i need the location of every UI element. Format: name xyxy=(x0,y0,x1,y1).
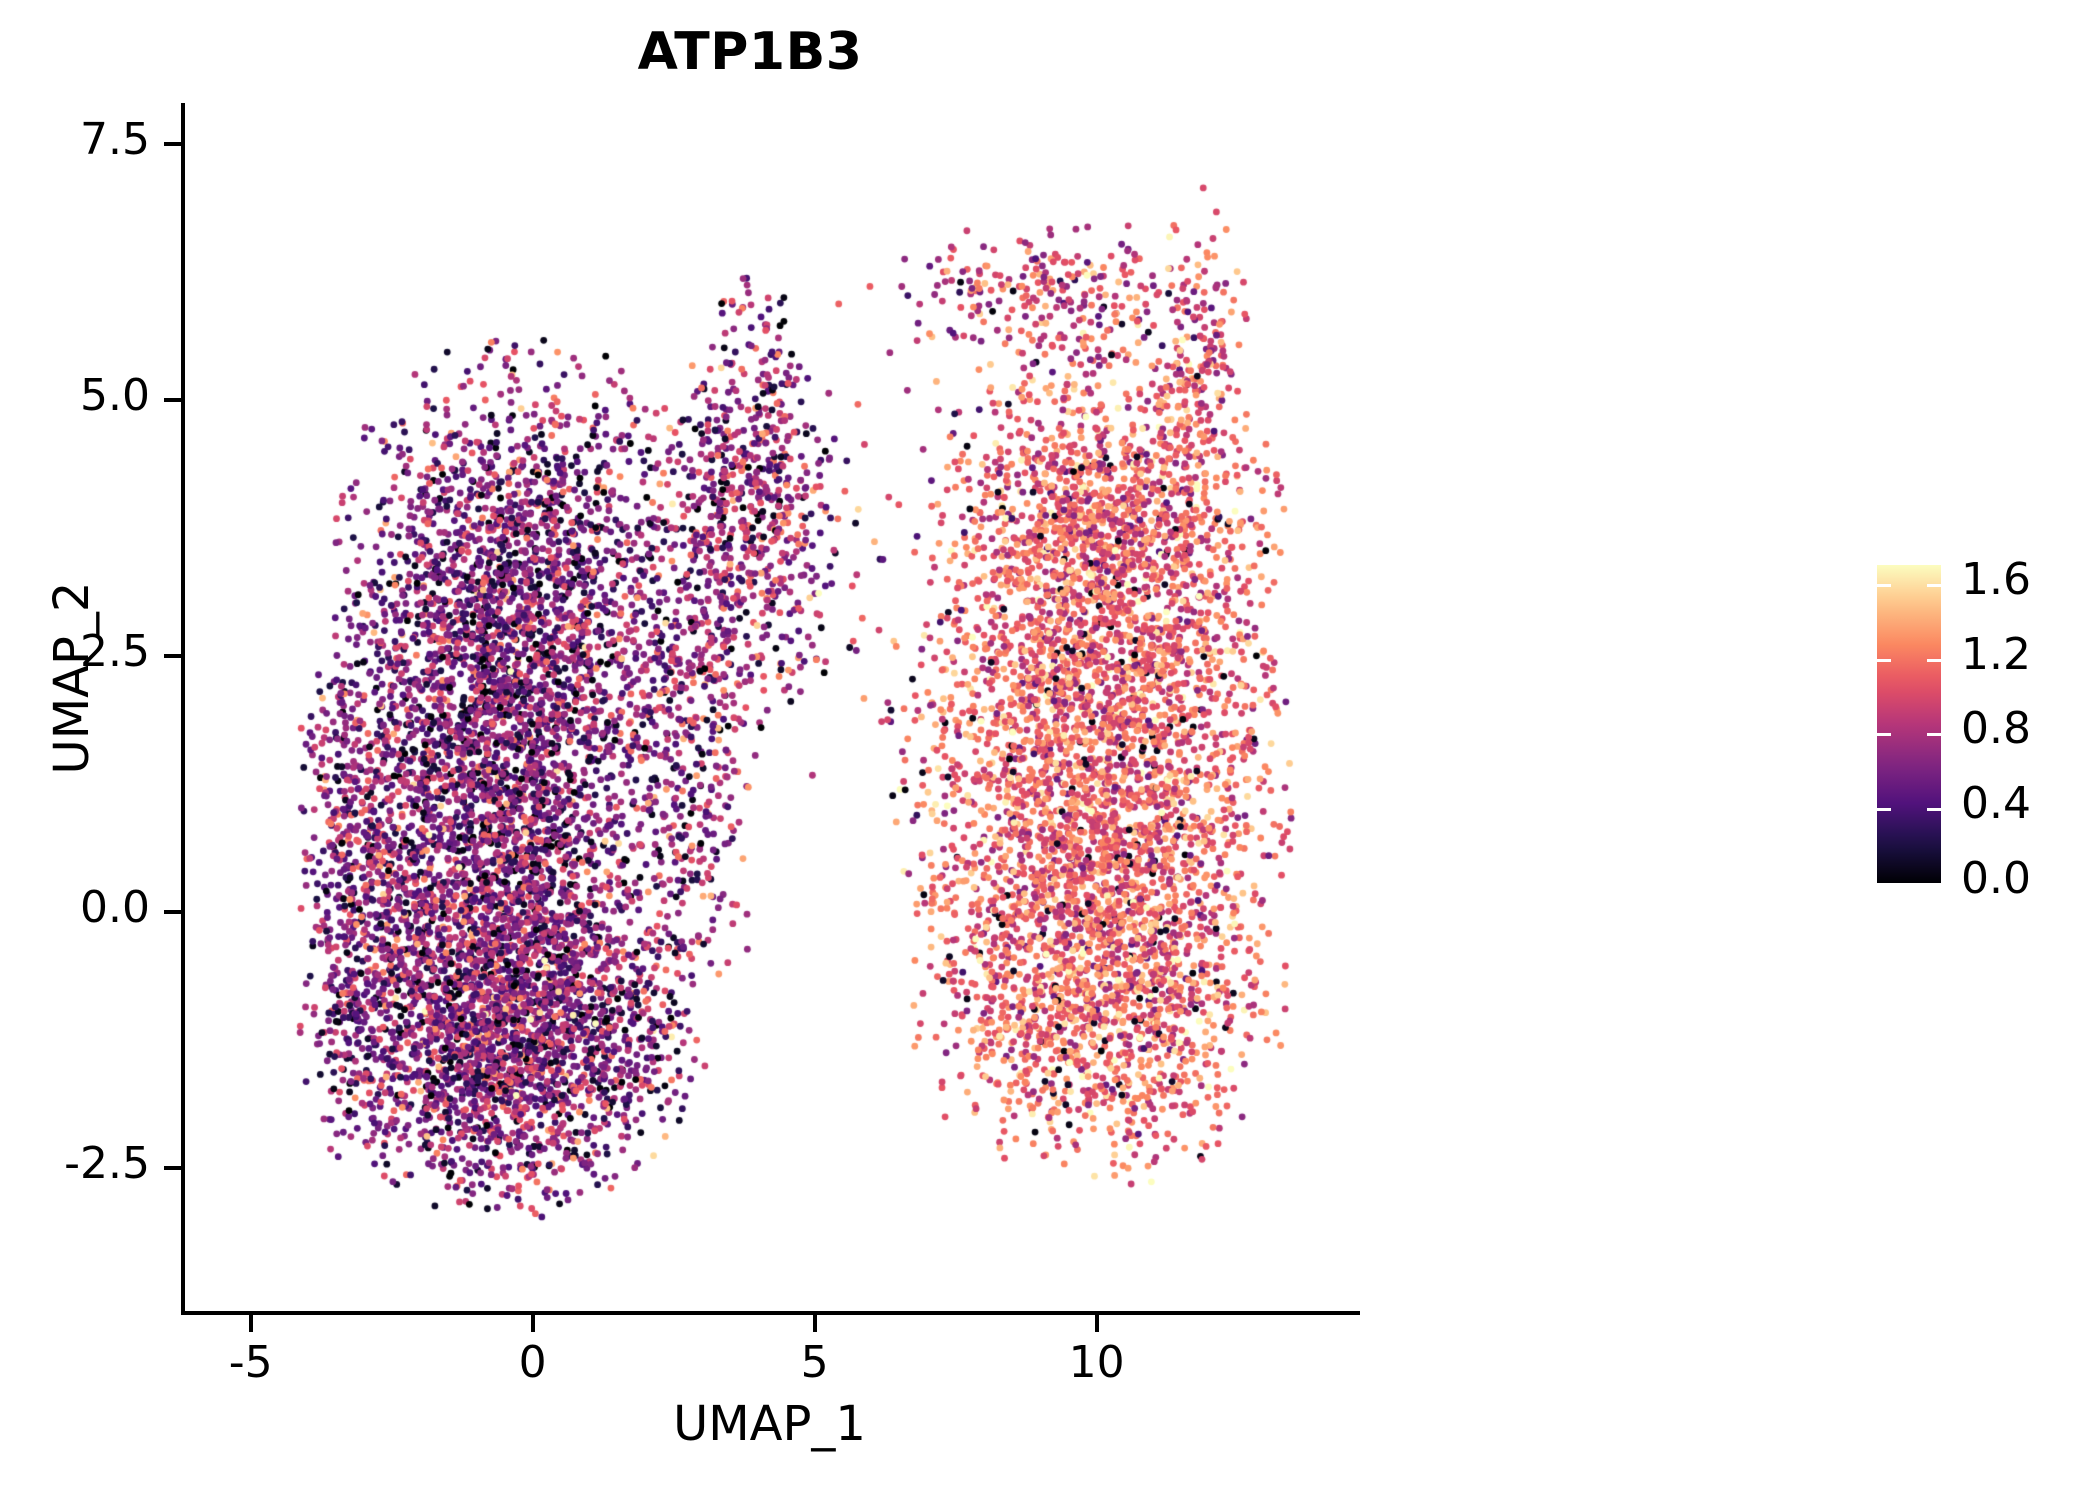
colorbar-tick-mark xyxy=(1927,659,1941,662)
y-axis-title: UMAP_2 xyxy=(44,328,100,1028)
x-tick-mark xyxy=(249,1315,253,1332)
scatter-plot-panel xyxy=(183,103,1356,1311)
y-tick-label: -2.5 xyxy=(0,1138,150,1189)
x-tick-mark xyxy=(813,1315,817,1332)
x-tick-mark xyxy=(531,1315,535,1332)
colorbar-tick-mark xyxy=(1927,733,1941,736)
colorbar-tick-label: 0.8 xyxy=(1961,703,2031,754)
colorbar-tick-mark xyxy=(1877,883,1891,886)
x-axis-line xyxy=(181,1311,1360,1315)
colorbar-tick-mark xyxy=(1927,808,1941,811)
colorbar-tick-label: 1.2 xyxy=(1961,629,2031,680)
colorbar-tick-mark xyxy=(1927,883,1941,886)
x-axis-title: UMAP_1 xyxy=(183,1396,1356,1452)
y-tick-mark xyxy=(164,398,181,402)
scatter-points-canvas xyxy=(183,103,1356,1311)
x-tick-label: -5 xyxy=(151,1337,351,1388)
colorbar-tick-mark xyxy=(1877,733,1891,736)
y-axis-line xyxy=(181,103,185,1315)
colorbar-tick-label: 0.0 xyxy=(1961,853,2031,904)
y-tick-mark xyxy=(164,142,181,146)
y-tick-mark xyxy=(164,910,181,914)
x-tick-label: 10 xyxy=(997,1337,1197,1388)
y-tick-mark xyxy=(164,654,181,658)
x-tick-label: 5 xyxy=(715,1337,915,1388)
y-tick-label: 7.5 xyxy=(0,114,150,165)
chart-root: ATP1B3 -2.50.02.55.07.5 -50510 UMAP_1 UM… xyxy=(0,0,2100,1500)
colorbar-tick-mark xyxy=(1877,584,1891,587)
colorbar-legend: 0.00.40.81.21.6 xyxy=(1877,565,2087,885)
colorbar-tick-mark xyxy=(1927,584,1941,587)
colorbar-tick-label: 1.6 xyxy=(1961,554,2031,605)
x-tick-mark xyxy=(1095,1315,1099,1332)
colorbar-tick-mark xyxy=(1877,808,1891,811)
x-tick-label: 0 xyxy=(433,1337,633,1388)
colorbar-tick-mark xyxy=(1877,659,1891,662)
page-title: ATP1B3 xyxy=(0,22,1500,82)
colorbar-tick-label: 0.4 xyxy=(1961,778,2031,829)
colorbar-gradient xyxy=(1877,565,1941,883)
y-tick-mark xyxy=(164,1166,181,1170)
